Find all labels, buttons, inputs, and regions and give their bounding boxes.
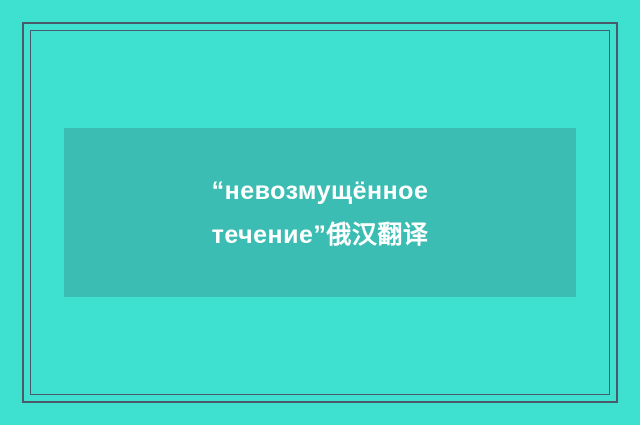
poster-canvas: “невозмущённое течение”俄汉翻译 bbox=[0, 0, 640, 425]
title-line-2: течение”俄汉翻译 bbox=[84, 213, 556, 257]
page-title: “невозмущённое течение”俄汉翻译 bbox=[64, 169, 576, 257]
title-panel: “невозмущённое течение”俄汉翻译 bbox=[64, 128, 576, 297]
title-line-1: “невозмущённое bbox=[84, 169, 556, 213]
